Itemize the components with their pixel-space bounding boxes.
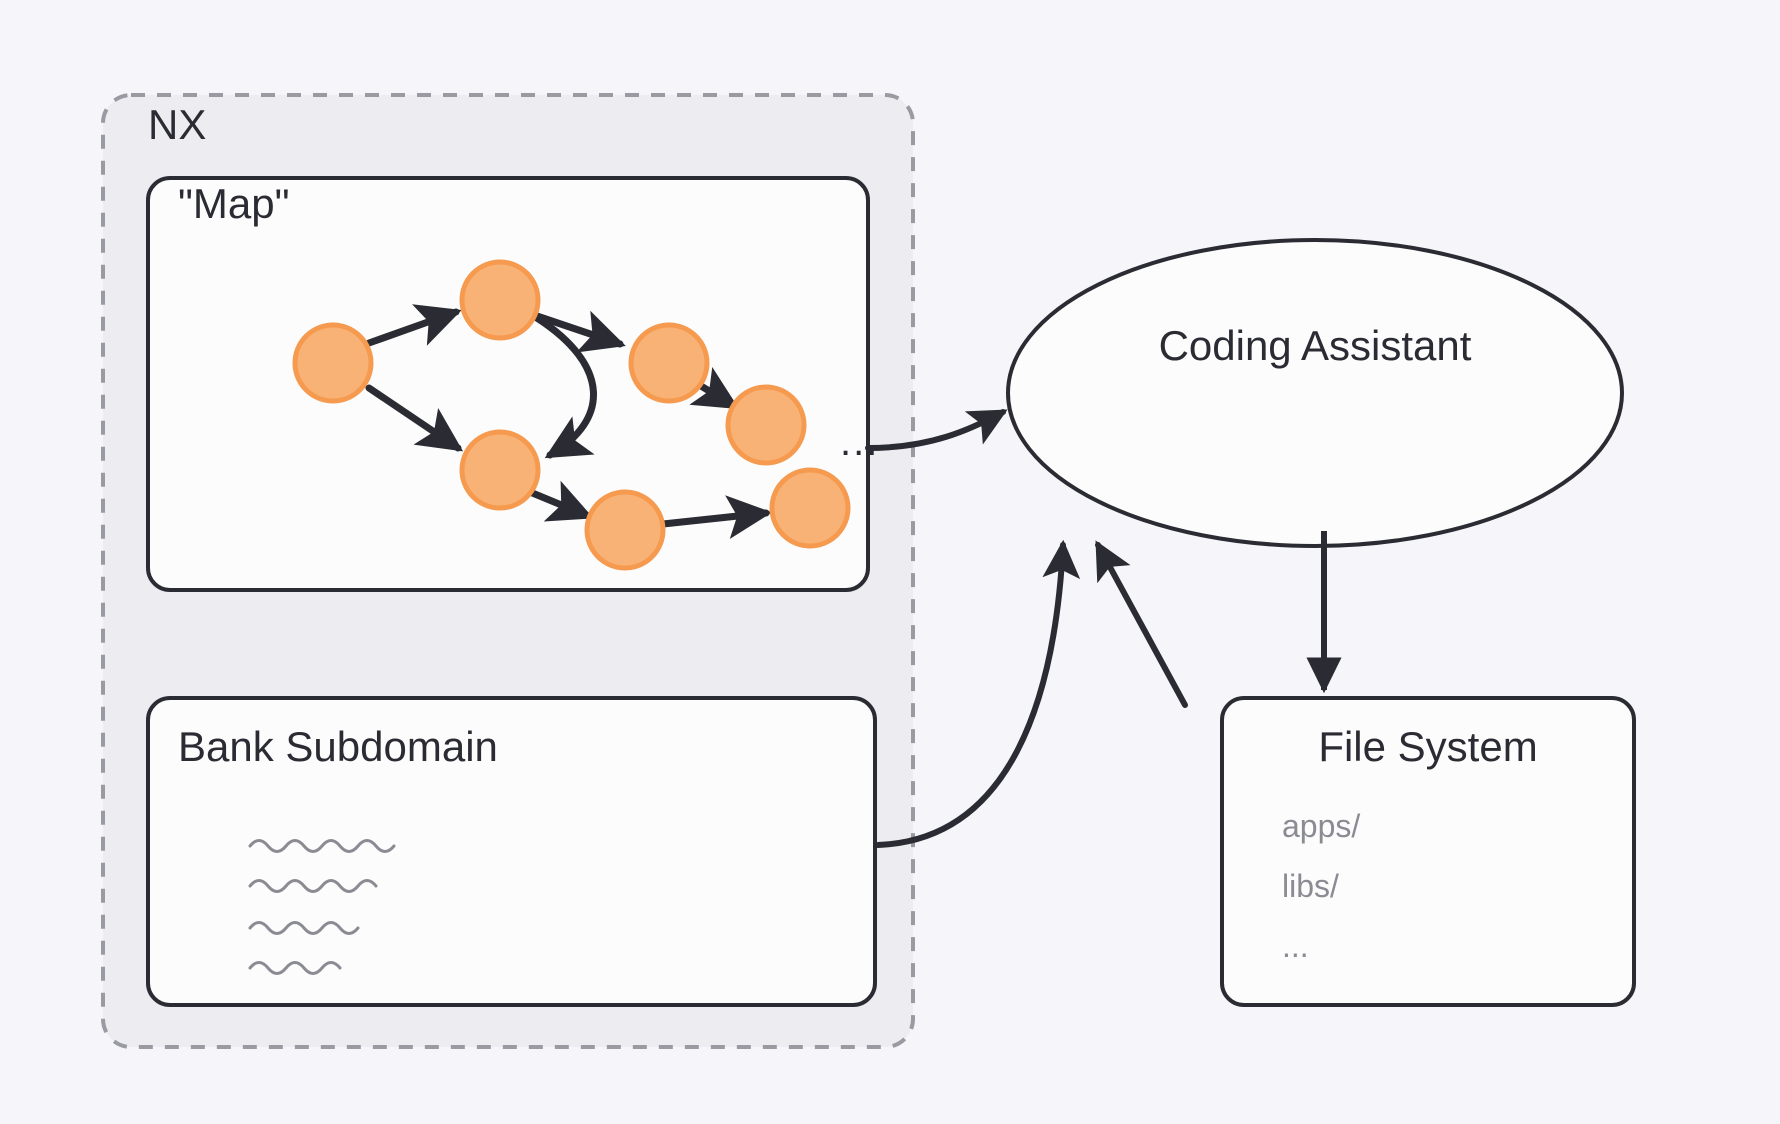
- file-system-item: apps/: [1282, 808, 1360, 845]
- file-system-item: libs/: [1282, 868, 1339, 905]
- graph-node[interactable]: [462, 432, 538, 508]
- graph-node[interactable]: [295, 325, 371, 401]
- map-card-title: "Map": [178, 180, 290, 228]
- coding-assistant-border: [1008, 240, 1622, 546]
- coding-assistant-node[interactable]: [1008, 240, 1622, 546]
- coding-assistant-label: Coding Assistant: [1015, 322, 1615, 370]
- diagram-vector-layer: [0, 0, 1780, 1124]
- connector-filesystem-to-assistant: [1098, 545, 1185, 705]
- graph-node[interactable]: [772, 470, 848, 546]
- map-card[interactable]: [148, 178, 868, 590]
- bank-card-title: Bank Subdomain: [178, 723, 498, 771]
- graph-node[interactable]: [462, 262, 538, 338]
- diagram-canvas: NX "Map" ... Bank Subdomain Coding Assis…: [0, 0, 1780, 1124]
- map-card-border: [148, 178, 868, 590]
- graph-node[interactable]: [587, 492, 663, 568]
- file-system-item: ...: [1282, 928, 1309, 965]
- file-system-title: File System: [1222, 723, 1634, 771]
- graph-ellipsis-label: ...: [840, 422, 879, 462]
- nx-group-label: NX: [148, 101, 206, 149]
- graph-node[interactable]: [728, 387, 804, 463]
- graph-node[interactable]: [631, 325, 707, 401]
